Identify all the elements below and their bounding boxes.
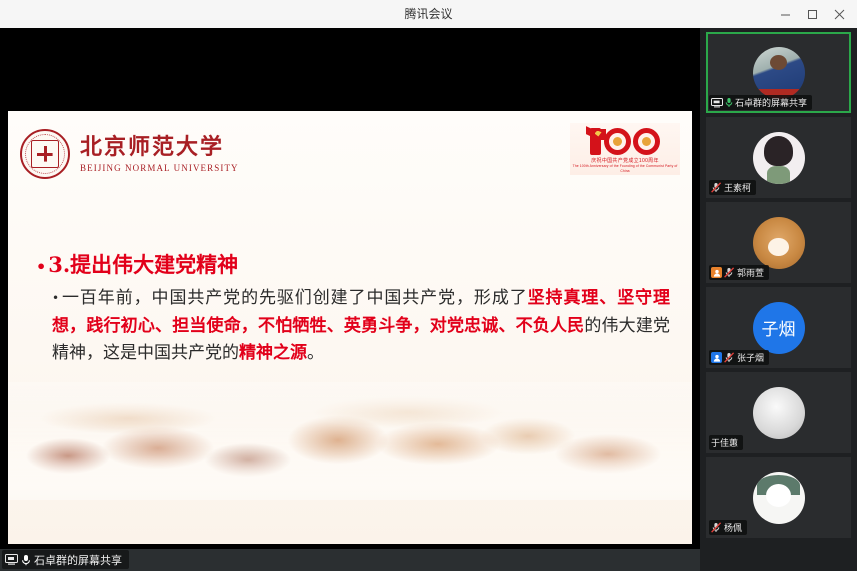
body-part-1: 一百年前，中国共产党的先驱们创建了中国共产党，形成了 bbox=[61, 288, 528, 308]
avatar bbox=[753, 132, 805, 184]
slide-title: •3.提出伟大建党精神 bbox=[36, 249, 238, 279]
digit-one-shape bbox=[590, 128, 601, 155]
participant-name: 杨佩 bbox=[724, 521, 742, 534]
participant-tile[interactable]: 王素柯 bbox=[706, 117, 851, 198]
screen-share-icon bbox=[5, 554, 18, 565]
participant-nametag: 石卓群的屏幕共享 bbox=[709, 95, 812, 110]
university-seal-icon bbox=[20, 129, 70, 179]
university-name-cn: 北京师范大学 bbox=[80, 135, 239, 160]
title-bar: 腾讯会议 bbox=[0, 0, 857, 29]
participant-nametag: 杨佩 bbox=[709, 520, 747, 535]
participant-name: 郭雨萱 bbox=[737, 266, 764, 279]
slide-body: •一百年前，中国共产党的先驱们创建了中国共产党，形成了坚持真理、坚守理想，践行初… bbox=[52, 285, 670, 368]
emblem-caption-en: The 100th Anniversary of the Founding of… bbox=[570, 164, 680, 174]
microphone-muted-icon bbox=[724, 352, 735, 363]
participant-tile[interactable]: 石卓群的屏幕共享 bbox=[706, 32, 851, 113]
participant-nametag: 张子烟 bbox=[709, 350, 769, 365]
minimize-icon bbox=[780, 9, 791, 20]
digit-zero-shape-1 bbox=[604, 128, 631, 155]
university-name-en: BEIJING NORMAL UNIVERSITY bbox=[80, 163, 239, 173]
digit-zero-shape-2 bbox=[633, 128, 660, 155]
microphone-muted-icon bbox=[711, 522, 722, 533]
participant-tile[interactable]: 子烟 张子烟 bbox=[706, 287, 851, 368]
avatar bbox=[753, 217, 805, 269]
body-bullet: • bbox=[52, 291, 59, 305]
screen-share-bar: 石卓群的屏幕共享 bbox=[0, 549, 700, 571]
participant-nametag: 于佳蕙 bbox=[709, 435, 743, 450]
avatar bbox=[753, 387, 805, 439]
body-highlight-2: 精神之源 bbox=[239, 343, 307, 363]
host-person-icon bbox=[711, 267, 722, 278]
screen-share-chip: 石卓群的屏幕共享 bbox=[2, 550, 129, 569]
participant-rail[interactable]: 石卓群的屏幕共享 王素柯 郭雨萱 bbox=[700, 28, 857, 571]
participant-nametag: 王素柯 bbox=[709, 180, 756, 195]
participant-tile[interactable]: 杨佩 bbox=[706, 457, 851, 538]
tencent-meeting-window: 腾讯会议 北京师范大学 BEIJING NORMAL UNIVERSITY bbox=[0, 0, 857, 571]
minimize-button[interactable] bbox=[772, 0, 799, 28]
host-person-icon bbox=[711, 352, 722, 363]
participant-nametag: 郭雨萱 bbox=[709, 265, 769, 280]
body-part-3: 。 bbox=[307, 343, 324, 363]
anniversary-number bbox=[576, 125, 674, 157]
presentation-slide: 北京师范大学 BEIJING NORMAL UNIVERSITY 庆祝中国共产党… bbox=[8, 111, 692, 544]
title-bullet: • bbox=[36, 257, 46, 276]
microphone-muted-icon bbox=[711, 182, 722, 193]
avatar: 子烟 bbox=[753, 302, 805, 354]
screen-share-label: 石卓群的屏幕共享 bbox=[34, 552, 122, 568]
microphone-icon bbox=[21, 554, 31, 566]
university-logo: 北京师范大学 BEIJING NORMAL UNIVERSITY bbox=[20, 129, 239, 179]
maximize-icon bbox=[807, 9, 818, 20]
emblem-caption-cn: 庆祝中国共产党成立100周年 bbox=[570, 157, 680, 164]
screen-share-icon bbox=[711, 98, 723, 108]
avatar bbox=[753, 47, 805, 99]
participant-name: 石卓群的屏幕共享 bbox=[735, 96, 807, 109]
participant-tile[interactable]: 于佳蕙 bbox=[706, 372, 851, 453]
avatar bbox=[753, 472, 805, 524]
window-title: 腾讯会议 bbox=[0, 0, 857, 28]
cpc-anniversary-emblem: 庆祝中国共产党成立100周年 The 100th Anniversary of … bbox=[570, 123, 680, 175]
microphone-muted-icon bbox=[724, 267, 735, 278]
participant-name: 张子烟 bbox=[737, 351, 764, 364]
great-wall-fade-overlay bbox=[8, 382, 692, 500]
window-controls bbox=[772, 0, 853, 28]
close-icon bbox=[834, 9, 845, 20]
shared-screen-stage[interactable]: 北京师范大学 BEIJING NORMAL UNIVERSITY 庆祝中国共产党… bbox=[0, 28, 700, 571]
microphone-icon bbox=[725, 97, 733, 108]
participant-name: 王素柯 bbox=[724, 181, 751, 194]
slide-title-text: 3.提出伟大建党精神 bbox=[48, 252, 238, 277]
participant-tile[interactable]: 郭雨萱 bbox=[706, 202, 851, 283]
close-button[interactable] bbox=[826, 0, 853, 28]
maximize-button[interactable] bbox=[799, 0, 826, 28]
university-name-block: 北京师范大学 BEIJING NORMAL UNIVERSITY bbox=[80, 135, 239, 172]
participant-name: 于佳蕙 bbox=[711, 436, 738, 449]
